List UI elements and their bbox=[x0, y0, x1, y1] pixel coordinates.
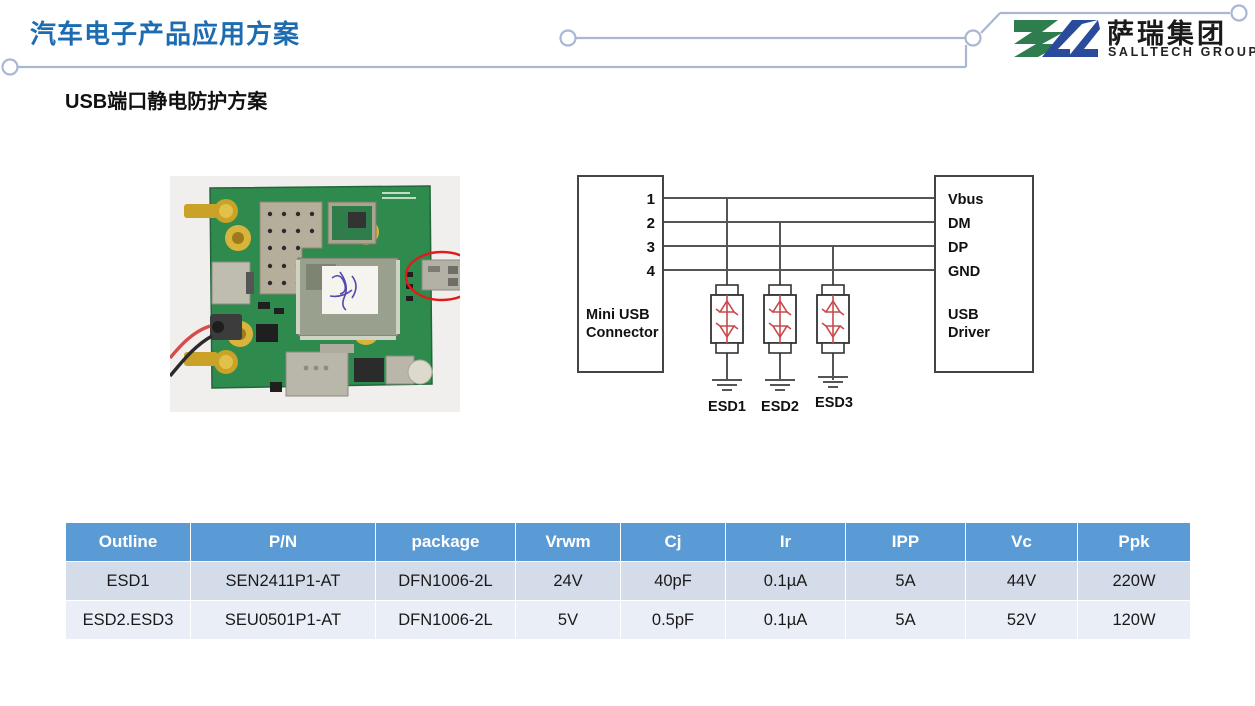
esd-device-2: ESD2 bbox=[761, 285, 799, 415]
pin-label-1: 1 bbox=[647, 191, 655, 208]
trace-node-left bbox=[3, 60, 18, 75]
circuit-schematic: 1 2 3 4 Mini USB Connector Vbus DM DP GN… bbox=[575, 168, 1040, 418]
cell-ipp: 5A bbox=[846, 601, 966, 640]
cell-ir: 0.1µA bbox=[726, 601, 846, 640]
table-header-row: Outline P/N package Vrwm Cj Ir IPP Vc Pp… bbox=[66, 523, 1191, 562]
cell-ppk: 120W bbox=[1078, 601, 1191, 640]
signal-label-dm: DM bbox=[948, 216, 971, 232]
column-header-vc: Vc bbox=[966, 523, 1078, 562]
section-title: USB端口静电防护方案 bbox=[65, 85, 267, 114]
trace-node-mid bbox=[966, 31, 981, 46]
cell-pn: SEN2411P1-AT bbox=[191, 562, 376, 601]
signal-label-dp: DP bbox=[948, 240, 968, 256]
usb-esd-circuit-diagram: 1 2 3 4 Mini USB Connector Vbus DM DP GN… bbox=[575, 168, 1040, 418]
left-box-label-line1: Mini USB bbox=[586, 307, 650, 323]
cell-vrwm: 24V bbox=[516, 562, 621, 601]
signal-label-vbus: Vbus bbox=[948, 192, 983, 208]
table-row: ESD2.ESD3 SEU0501P1-AT DFN1006-2L 5V 0.5… bbox=[66, 601, 1191, 640]
table-row: ESD1 SEN2411P1-AT DFN1006-2L 24V 40pF 0.… bbox=[66, 562, 1191, 601]
pcb-board-photo bbox=[170, 176, 460, 412]
cell-vc: 52V bbox=[966, 601, 1078, 640]
column-header-vrwm: Vrwm bbox=[516, 523, 621, 562]
cell-package: DFN1006-2L bbox=[376, 601, 516, 640]
pin-label-4: 4 bbox=[647, 263, 656, 280]
trace-node-mid-left bbox=[561, 31, 576, 46]
right-box-label-line1: USB bbox=[948, 307, 979, 323]
cell-outline: ESD1 bbox=[66, 562, 191, 601]
pin-label-2: 2 bbox=[647, 215, 655, 232]
cell-pn: SEU0501P1-AT bbox=[191, 601, 376, 640]
right-box-label-line2: Driver bbox=[948, 325, 990, 341]
pin-label-3: 3 bbox=[647, 239, 655, 256]
cell-vrwm: 5V bbox=[516, 601, 621, 640]
cell-ipp: 5A bbox=[846, 562, 966, 601]
salltech-logo-mark bbox=[1012, 16, 1100, 60]
cell-ir: 0.1µA bbox=[726, 562, 846, 601]
column-header-pn: P/N bbox=[191, 523, 376, 562]
column-header-ipp: IPP bbox=[846, 523, 966, 562]
column-header-package: package bbox=[376, 523, 516, 562]
column-header-ir: Ir bbox=[726, 523, 846, 562]
company-logo: 萨瑞集团 SALLTECH GROUP bbox=[1012, 12, 1244, 64]
cell-cj: 0.5pF bbox=[621, 601, 726, 640]
esd-label-1: ESD1 bbox=[708, 399, 746, 415]
column-header-outline: Outline bbox=[66, 523, 191, 562]
column-header-cj: Cj bbox=[621, 523, 726, 562]
esd-device-3: ESD3 bbox=[815, 285, 853, 411]
cell-outline: ESD2.ESD3 bbox=[66, 601, 191, 640]
page-title: 汽车电子产品应用方案 bbox=[30, 14, 300, 51]
left-box-label-line2: Connector bbox=[586, 325, 659, 341]
pcb-photo-graphic bbox=[170, 176, 460, 412]
esd-device-1: ESD1 bbox=[708, 285, 746, 415]
logo-english-name: SALLTECH GROUP bbox=[1108, 45, 1255, 59]
esd-label-3: ESD3 bbox=[815, 395, 853, 411]
cell-ppk: 220W bbox=[1078, 562, 1191, 601]
cell-cj: 40pF bbox=[621, 562, 726, 601]
esd-label-2: ESD2 bbox=[761, 399, 799, 415]
cell-package: DFN1006-2L bbox=[376, 562, 516, 601]
slide-header: 汽车电子产品应用方案 萨瑞集团 SALLTECH GROUP bbox=[0, 0, 1255, 90]
esd-spec-table: Outline P/N package Vrwm Cj Ir IPP Vc Pp… bbox=[65, 522, 1191, 640]
column-header-ppk: Ppk bbox=[1078, 523, 1191, 562]
signal-label-gnd: GND bbox=[948, 264, 980, 280]
cell-vc: 44V bbox=[966, 562, 1078, 601]
